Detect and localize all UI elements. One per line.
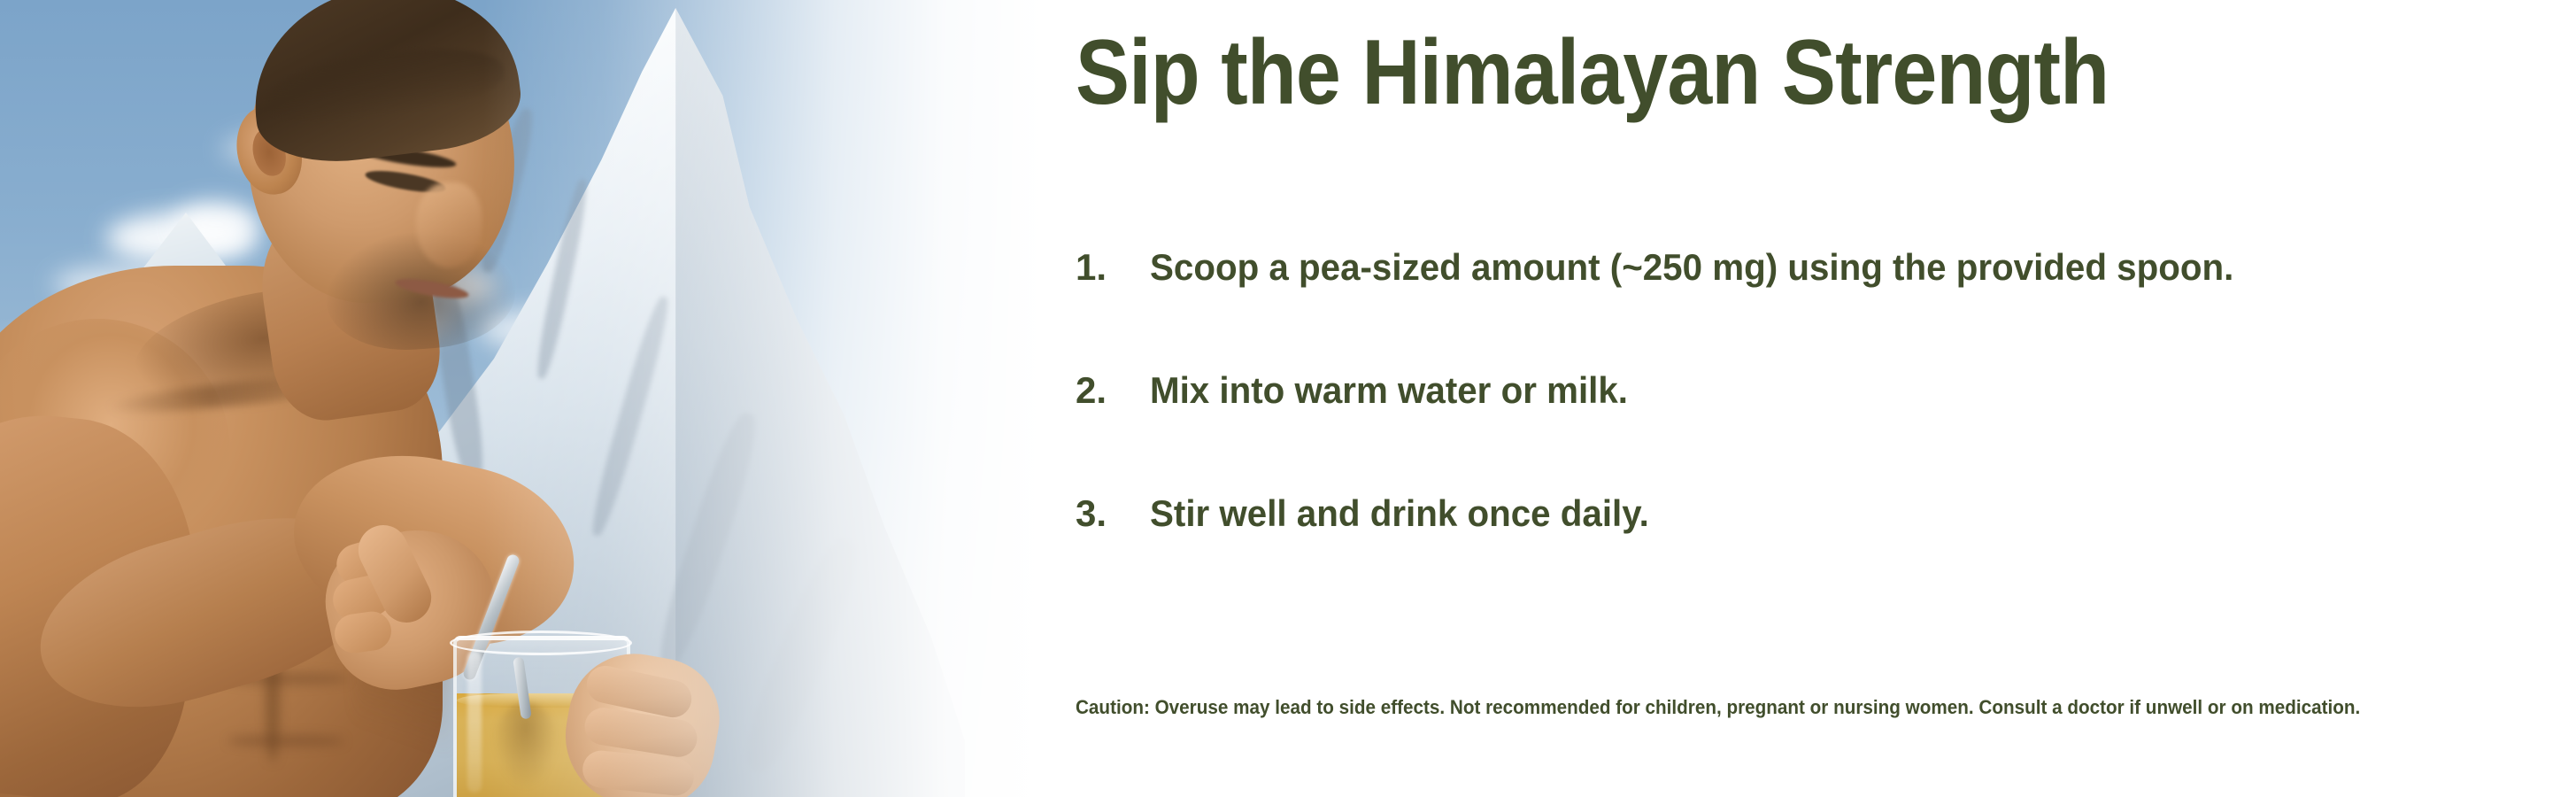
list-item: 1. Scoop a pea-sized amount (~250 mg) us… xyxy=(1076,246,2563,288)
glass-highlight xyxy=(467,651,482,793)
step-text: Scoop a pea-sized amount (~250 mg) using… xyxy=(1150,246,2506,288)
step-number: 2. xyxy=(1076,369,1150,411)
step-text: Stir well and drink once daily. xyxy=(1150,492,2506,534)
list-item: 3. Stir well and drink once daily. xyxy=(1076,492,2563,534)
page-title: Sip the Himalayan Strength xyxy=(1076,19,2109,127)
hero-photo xyxy=(0,0,1098,797)
man-figure xyxy=(0,0,690,797)
step-text: Mix into warm water or milk. xyxy=(1150,369,2506,411)
product-usage-banner: Sip the Himalayan Strength 1. Scoop a pe… xyxy=(0,0,2576,797)
list-item: 2. Mix into warm water or milk. xyxy=(1076,369,2563,411)
usage-steps-list: 1. Scoop a pea-sized amount (~250 mg) us… xyxy=(1076,246,2563,534)
abdominal-line xyxy=(228,735,343,747)
nose xyxy=(416,182,482,267)
content-panel: Sip the Himalayan Strength 1. Scoop a pe… xyxy=(1076,0,2576,797)
step-number: 3. xyxy=(1076,492,1150,534)
step-number: 1. xyxy=(1076,246,1150,288)
caution-note: Caution: Overuse may lead to side effect… xyxy=(1076,689,2373,727)
